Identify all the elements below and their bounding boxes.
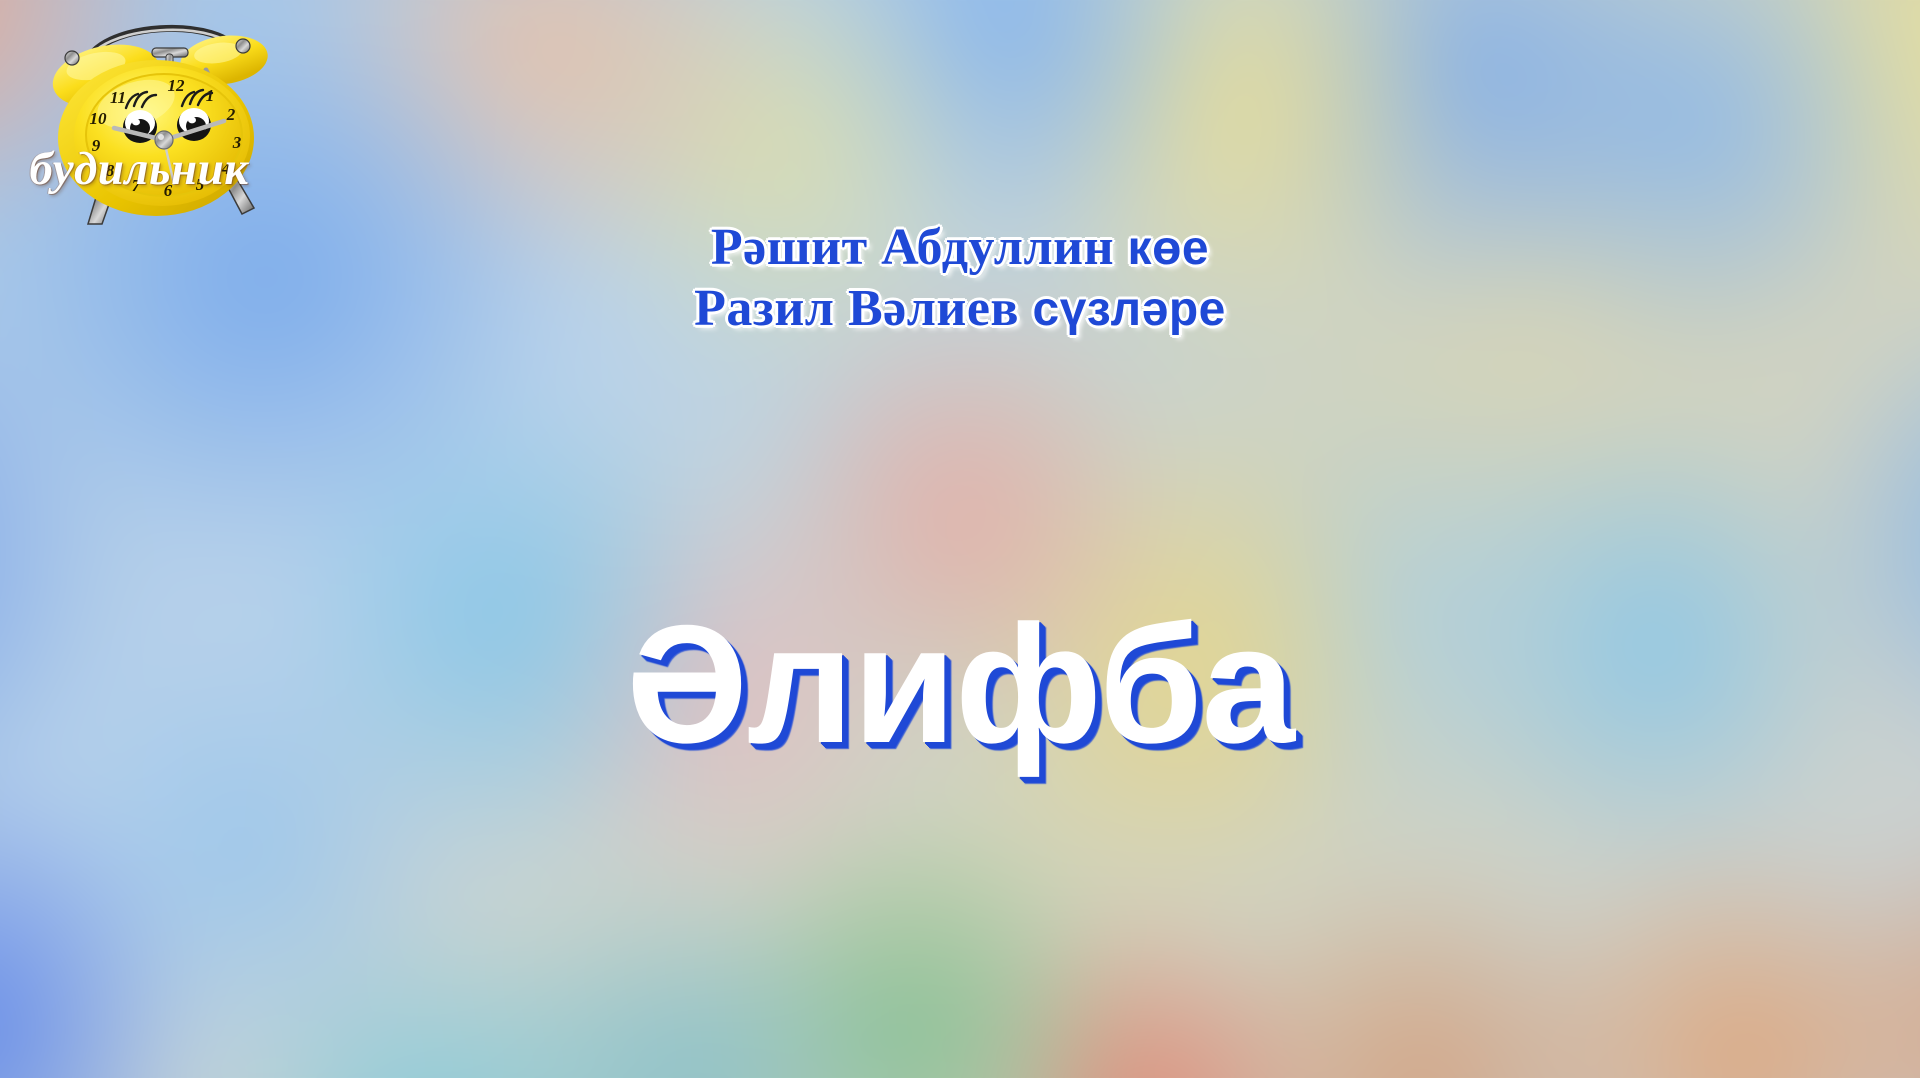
svg-text:6: 6 xyxy=(164,181,173,200)
composer-name: Рәшит Абдуллин xyxy=(711,219,1114,276)
song-title: Әлифба xyxy=(0,600,1920,768)
svg-text:4: 4 xyxy=(221,159,231,178)
composer-role: көе xyxy=(1128,222,1210,275)
song-title-text: Әлифба xyxy=(626,600,1294,768)
lyricist-name: Разил Вәлиев xyxy=(694,280,1019,337)
svg-text:2: 2 xyxy=(226,105,236,124)
credit-line-lyricist: Разил Вәлиев сүзләре xyxy=(0,279,1920,340)
video-frame: 12 1 2 3 4 5 6 7 8 9 10 11 xyxy=(0,0,1920,1078)
svg-text:12: 12 xyxy=(168,76,186,95)
lyricist-role: сүзләре xyxy=(1033,283,1226,336)
svg-text:11: 11 xyxy=(110,88,126,107)
svg-text:3: 3 xyxy=(232,133,242,152)
svg-text:1: 1 xyxy=(206,86,215,105)
svg-text:10: 10 xyxy=(90,109,108,128)
alarm-clock-icon: 12 1 2 3 4 5 6 7 8 9 10 11 xyxy=(28,8,298,240)
svg-text:9: 9 xyxy=(92,136,101,155)
svg-text:8: 8 xyxy=(106,161,115,180)
svg-text:5: 5 xyxy=(196,175,205,194)
